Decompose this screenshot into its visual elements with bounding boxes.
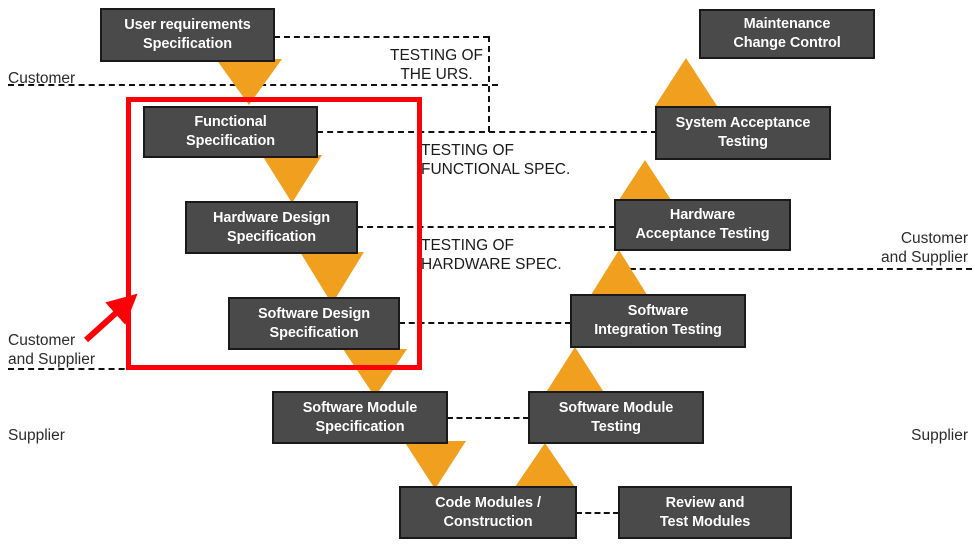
connector-modulespec-to-moduletesting <box>447 417 529 419</box>
box-system-acceptance-testing[interactable]: System Acceptance Testing <box>655 106 831 160</box>
box-hardware-acceptance-testing[interactable]: Hardware Acceptance Testing <box>614 199 791 251</box>
label-testing-of-the-urs: TESTING OF THE URS. <box>384 47 489 85</box>
connector-softwaredesign-to-sit <box>399 322 571 324</box>
label-zone-customer-left: Customer <box>8 69 75 88</box>
label-zone-supplier-left: Supplier <box>8 426 65 445</box>
box-code-modules-construction[interactable]: Code Modules / Construction <box>399 486 577 539</box>
box-review-and-test-modules[interactable]: Review and Test Modules <box>618 486 792 539</box>
highlight-rectangle <box>126 97 422 370</box>
label-zone-supplier-right: Supplier <box>820 426 968 445</box>
arrow-module-spec-to-code <box>404 441 466 489</box>
zone-separator-customer-supplier-right <box>620 268 972 270</box>
arrow-sit-to-hat <box>589 250 649 298</box>
box-software-module-testing[interactable]: Software Module Testing <box>528 391 704 444</box>
v-model-diagram-canvas: User requirements Specification Function… <box>0 0 975 546</box>
box-maintenance-change-control[interactable]: Maintenance Change Control <box>699 9 875 59</box>
label-zone-customer-and-supplier-right: Customer and Supplier <box>820 229 968 268</box>
box-software-module-specification[interactable]: Software Module Specification <box>272 391 448 444</box>
connector-urs-horizontal <box>274 36 489 38</box>
label-testing-of-functional-spec: TESTING OF FUNCTIONAL SPEC. <box>421 142 581 180</box>
arrow-sat-to-maintenance <box>655 58 717 106</box>
red-arrow-pointer <box>78 290 148 350</box>
arrow-code-to-module-testing <box>515 443 575 487</box>
connector-code-to-review <box>576 512 619 514</box>
box-user-requirements-specification[interactable]: User requirements Specification <box>100 8 275 62</box>
label-testing-of-hardware-spec: TESTING OF HARDWARE SPEC. <box>421 237 581 275</box>
box-software-integration-testing[interactable]: Software Integration Testing <box>570 294 746 348</box>
arrow-module-testing-to-sit <box>545 347 605 394</box>
